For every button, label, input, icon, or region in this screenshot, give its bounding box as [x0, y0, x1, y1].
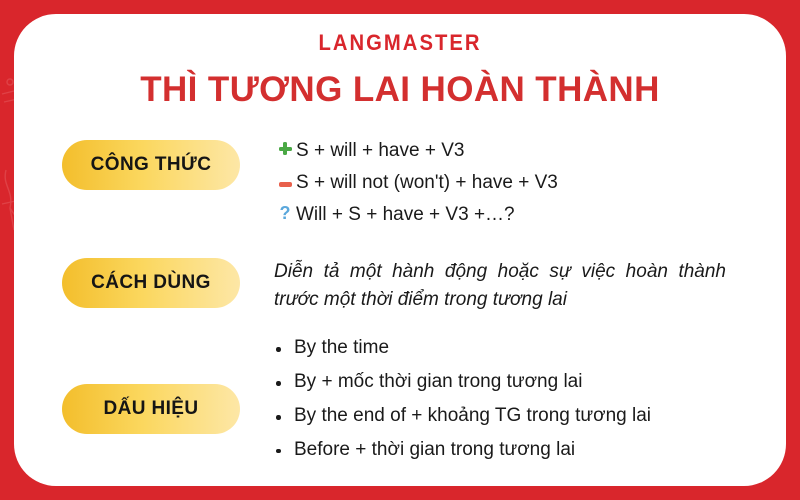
badge-cach-dung[interactable]: CÁCH DÙNG — [62, 258, 240, 308]
list-item: By + mốc thời gian trong tương lai — [274, 372, 742, 393]
formula-affirmative-text: S + will + have + V3 — [296, 140, 464, 162]
list-item: By the time — [274, 338, 742, 359]
formula-line-interrogative: ? Will + S + have + V3 +…? — [274, 204, 742, 226]
corner-notch-bottom-right — [744, 444, 786, 486]
formula-line-affirmative: S + will + have + V3 — [274, 140, 742, 162]
page-title: THÌ TƯƠNG LAI HOÀN THÀNH — [0, 70, 800, 110]
badge-dau-hieu[interactable]: DẤU HIỆU — [62, 384, 240, 434]
section-signals: DẤU HIỆU By the time By + mốc thời gian … — [62, 338, 742, 474]
usage-badge-cell: CÁCH DÙNG — [62, 258, 252, 308]
section-usage: CÁCH DÙNG Diễn tả một hành động hoặc sự … — [62, 258, 742, 314]
sections-container: CÔNG THỨC S + will + have + V3 S + will … — [62, 140, 742, 492]
signal-word-list: By the time By + mốc thời gian trong tươ… — [274, 338, 742, 461]
formula-badge-cell: CÔNG THỨC — [62, 140, 252, 190]
list-item: By the end of + khoảng TG trong tương la… — [274, 406, 742, 427]
badge-cong-thuc[interactable]: CÔNG THỨC — [62, 140, 240, 190]
infographic-card: LANGMASTER THÌ TƯƠNG LAI HOÀN THÀNH CÔNG… — [0, 0, 800, 500]
brand-logo: LANGMASTER — [32, 30, 768, 56]
minus-icon — [274, 182, 296, 187]
usage-description: Diễn tả một hành động hoặc sự việc hoàn … — [274, 258, 726, 314]
plus-icon — [274, 142, 296, 155]
formula-interrogative-text: Will + S + have + V3 +…? — [296, 204, 515, 226]
question-mark-glyph: ? — [280, 204, 291, 222]
signals-badge-cell: DẤU HIỆU — [62, 338, 252, 434]
formula-line-negative: S + will not (won't) + have + V3 — [274, 172, 742, 194]
corner-notch-bottom-left — [14, 444, 56, 486]
section-formula: CÔNG THỨC S + will + have + V3 S + will … — [62, 140, 742, 236]
question-mark-icon: ? — [274, 204, 296, 222]
list-item: Before + thời gian trong tương lai — [274, 440, 742, 461]
formula-negative-text: S + will not (won't) + have + V3 — [296, 172, 558, 194]
formula-content: S + will + have + V3 S + will not (won't… — [252, 140, 742, 236]
signals-content: By the time By + mốc thời gian trong tươ… — [252, 338, 742, 474]
usage-content: Diễn tả một hành động hoặc sự việc hoàn … — [252, 258, 742, 314]
